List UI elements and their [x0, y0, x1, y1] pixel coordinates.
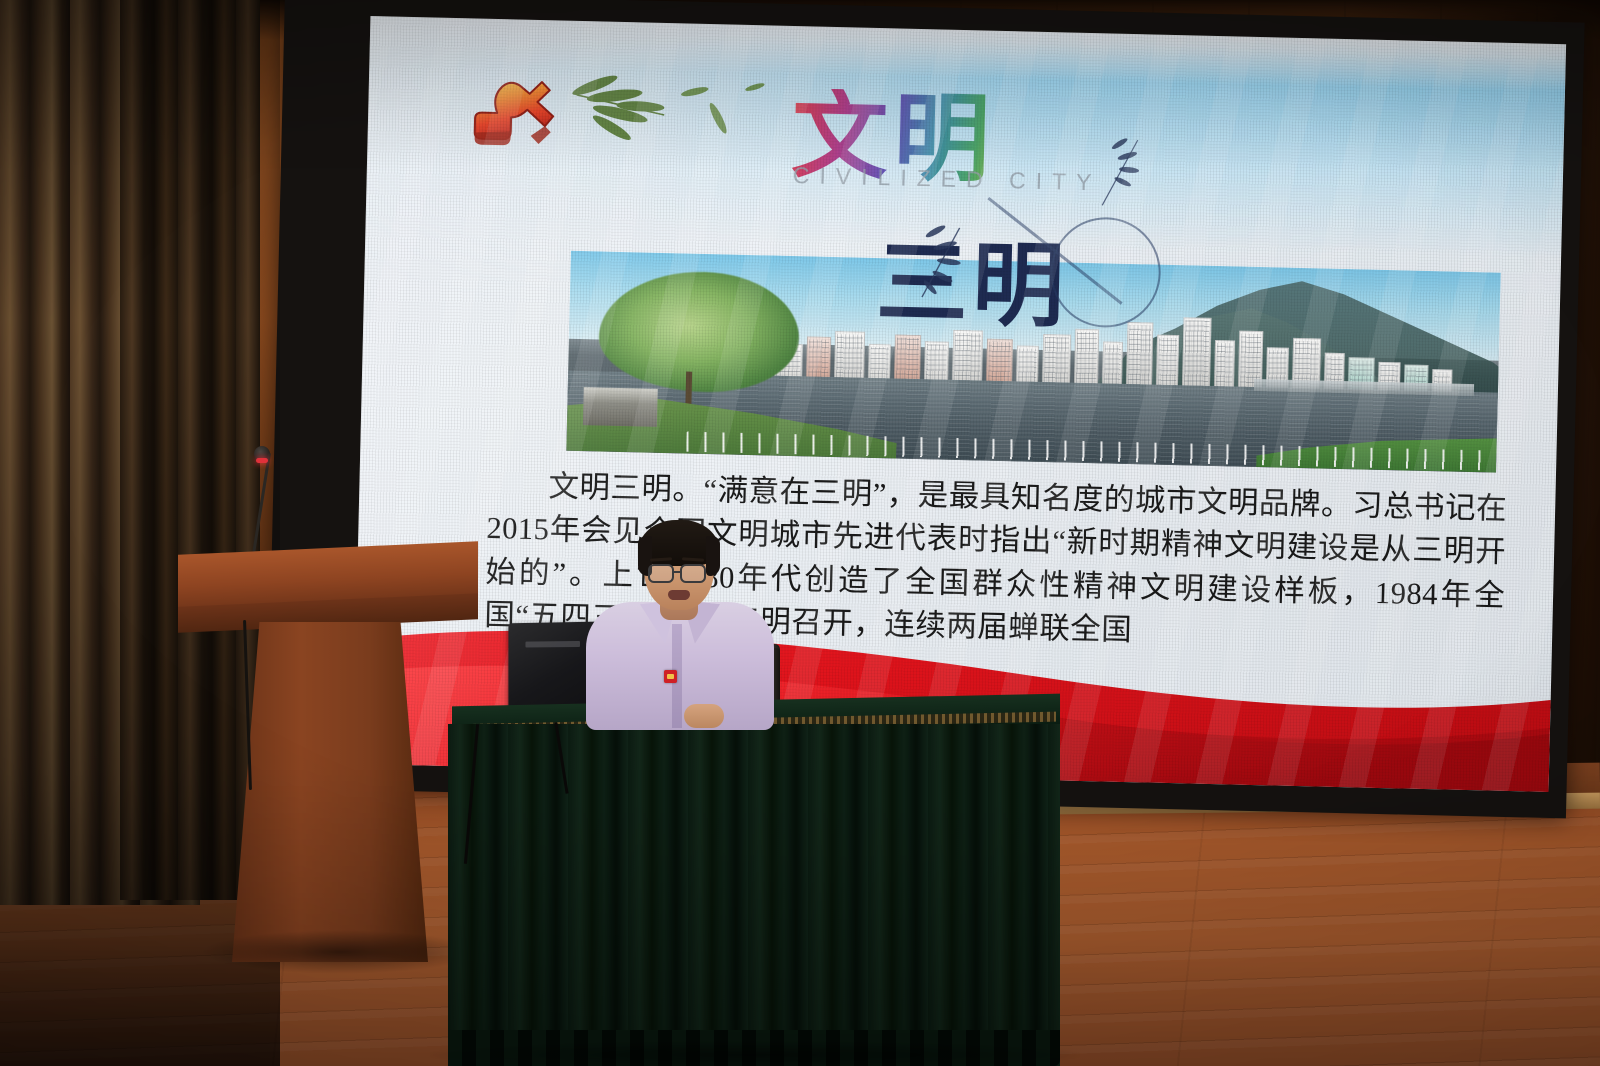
presenter-hair-right: [706, 536, 720, 576]
podium-column: [232, 622, 428, 962]
podium-mic-indicator-light: [256, 458, 268, 463]
photo-scene: 文明 CIVILIZED CITY 三明: [0, 0, 1600, 1066]
table-floor-shadow: [430, 1040, 1080, 1066]
party-badge-pin: [664, 670, 677, 683]
eyeglasses-bridge: [674, 571, 682, 573]
table-skirt: [448, 724, 1060, 1066]
podium-floor-shadow: [200, 930, 480, 974]
bamboo-leaf-icon: [567, 69, 800, 184]
eyeglasses-lens-left: [648, 564, 674, 583]
slide-title-lockup: 文明 CIVILIZED CITY 三明: [763, 87, 1288, 329]
presenter-hand: [684, 704, 724, 728]
photo-hut: [583, 387, 658, 427]
presenter-mouth: [668, 590, 690, 600]
olive-branch-icon: [914, 221, 1006, 309]
stage-curtain-fold: [120, 0, 260, 900]
eyeglasses-lens-right: [680, 564, 706, 583]
slide-title-en: CIVILIZED CITY: [792, 162, 1101, 196]
presenter: [580, 520, 780, 730]
olive-branch-right-icon: [1096, 135, 1178, 217]
title-circle-ornament: [1049, 216, 1162, 329]
laptop-brand-logo: [525, 641, 580, 648]
cpc-emblem-icon: [463, 68, 585, 163]
